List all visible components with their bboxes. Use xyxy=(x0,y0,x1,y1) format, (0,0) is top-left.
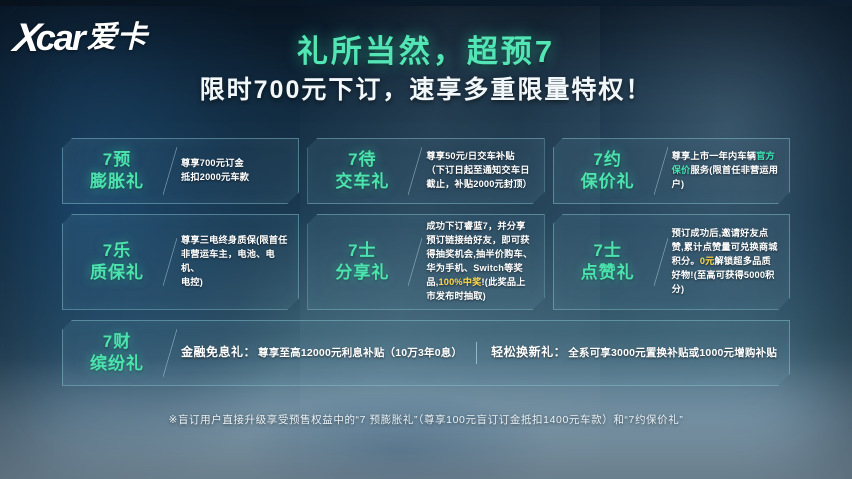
benefit-line: 非营运车主，电池、电机、 xyxy=(181,248,288,276)
finance-segment: 金融免息礼： 尊享至高12000元利息补贴（10万3年0息） xyxy=(181,343,462,362)
benefit-card-price-guarantee: 7约 保价礼 尊享上市一年内车辆官方保价服务(限首任非营运用户) xyxy=(553,138,790,204)
benefit-body: 预订成功后,邀请好友点赞,累计点赞量可兑换商城积分。0元解锁超多品质好物!(至高… xyxy=(672,227,783,297)
slash-divider-icon xyxy=(163,329,177,377)
benefit-text-pre: 尊享上市一年内车辆 xyxy=(672,151,757,161)
segment-text: 尊享至高12000元利息补贴（10万3年0息） xyxy=(258,346,462,362)
benefit-line: 尊享700元订金 xyxy=(181,157,288,171)
benefit-body: 尊享上市一年内车辆官方保价服务(限首任非营运用户) xyxy=(672,150,783,192)
benefit-title: 7乐 质保礼 xyxy=(71,240,163,284)
logo-chinese-name: 爱卡 xyxy=(87,23,147,53)
logo-x-mark: X xyxy=(11,18,42,58)
slash-divider-icon xyxy=(408,238,422,286)
benefit-body: 尊享700元订金 抵扣2000元车款 xyxy=(181,157,292,185)
slash-divider-icon xyxy=(408,147,422,195)
benefit-card-likes: 7士 点赞礼 预订成功后,邀请好友点赞,累计点赞量可兑换商城积分。0元解锁超多品… xyxy=(553,214,790,310)
trade-in-segment: 轻松换新礼： 全系可享3000元置换补贴或1000元增购补贴 xyxy=(491,343,777,362)
benefit-title: 7士 点赞礼 xyxy=(562,240,654,284)
slash-divider-icon xyxy=(654,147,668,195)
promo-banner: X car 爱卡 礼所当然，超预7 限时700元下订，速享多重限量特权！ 7预 … xyxy=(0,0,852,479)
segment-label: 轻松换新礼： xyxy=(491,343,566,361)
benefit-title: 7预 膨胀礼 xyxy=(71,149,163,193)
benefits-grid: 7预 膨胀礼 尊享700元订金 抵扣2000元车款 7待 交车礼 尊享50元/日… xyxy=(62,138,790,396)
benefit-card-delivery: 7待 交车礼 尊享50元/日交车补贴 （下订日起至通知交车日 截止，补贴2000… xyxy=(307,138,544,204)
benefits-row-1: 7预 膨胀礼 尊享700元订金 抵扣2000元车款 7待 交车礼 尊享50元/日… xyxy=(62,138,790,204)
benefit-line: 尊享三电终身质保(限首任 xyxy=(181,234,288,248)
benefit-body: 尊享50元/日交车补贴 （下订日起至通知交车日 截止，补贴2000元封顶） xyxy=(426,150,537,192)
footnote: ※盲订用户直接升级享受预售权益中的“7 预膨胀礼”（尊享100元盲订订金抵扣14… xyxy=(0,412,852,427)
benefit-title: 7士 分享礼 xyxy=(316,240,408,284)
segment-divider xyxy=(476,342,477,364)
segment-text-pre: 全系可享 xyxy=(568,346,611,362)
benefits-row-2: 7乐 质保礼 尊享三电终身质保(限首任 非营运车主，电池、电机、 电控) 7士 … xyxy=(62,214,790,310)
benefit-title: 7财 缤纷礼 xyxy=(71,331,163,375)
benefit-body: 成功下订睿蓝7，并分享预订链接给好友，即可获得抽奖机会,抽半价购车、华为手机、S… xyxy=(426,220,537,304)
benefit-card-finance: 7财 缤纷礼 金融免息礼： 尊享至高12000元利息补贴（10万3年0息） 轻松… xyxy=(62,320,790,386)
segment-text-highlight: 3000元 xyxy=(611,346,646,362)
logo-wordmark: car xyxy=(36,20,84,56)
benefit-title: 7约 保价礼 xyxy=(562,149,654,193)
slash-divider-icon xyxy=(163,238,177,286)
benefit-line: 电控) xyxy=(181,276,288,290)
slash-divider-icon xyxy=(654,238,668,286)
xcar-logo: X car 爱卡 xyxy=(14,18,147,58)
benefit-title: 7待 交车礼 xyxy=(316,149,408,193)
segment-text-highlight-2: 1000元 xyxy=(699,346,734,362)
benefit-line: （下订日起至通知交车日 xyxy=(426,164,533,178)
benefit-line: 抵扣2000元车款 xyxy=(181,171,288,185)
segment-text-post: 增购补贴 xyxy=(734,346,777,362)
page-subtitle: 限时700元下订，速享多重限量特权！ xyxy=(0,70,852,106)
benefit-line: 尊享50元/日交车补贴 xyxy=(426,150,533,164)
benefit-body: 金融免息礼： 尊享至高12000元利息补贴（10万3年0息） 轻松换新礼： 全系… xyxy=(181,342,783,364)
segment-text-mid: 置换补贴或 xyxy=(646,346,700,362)
benefit-line: 截止，补贴2000元封顶） xyxy=(426,178,533,192)
benefit-text-highlight: 0元 xyxy=(700,256,715,266)
segment-label: 金融免息礼： xyxy=(181,343,256,361)
benefit-card-pre-order: 7预 膨胀礼 尊享700元订金 抵扣2000元车款 xyxy=(62,138,299,204)
benefits-row-3: 7财 缤纷礼 金融免息礼： 尊享至高12000元利息补贴（10万3年0息） 轻松… xyxy=(62,320,790,386)
slash-divider-icon xyxy=(163,147,177,195)
benefit-card-share: 7士 分享礼 成功下订睿蓝7，并分享预订链接给好友，即可获得抽奖机会,抽半价购车… xyxy=(307,214,544,310)
benefit-text-highlight: 100%中奖 xyxy=(438,277,481,287)
benefit-body: 尊享三电终身质保(限首任 非营运车主，电池、电机、 电控) xyxy=(181,234,292,290)
benefit-card-warranty: 7乐 质保礼 尊享三电终身质保(限首任 非营运车主，电池、电机、 电控) xyxy=(62,214,299,310)
